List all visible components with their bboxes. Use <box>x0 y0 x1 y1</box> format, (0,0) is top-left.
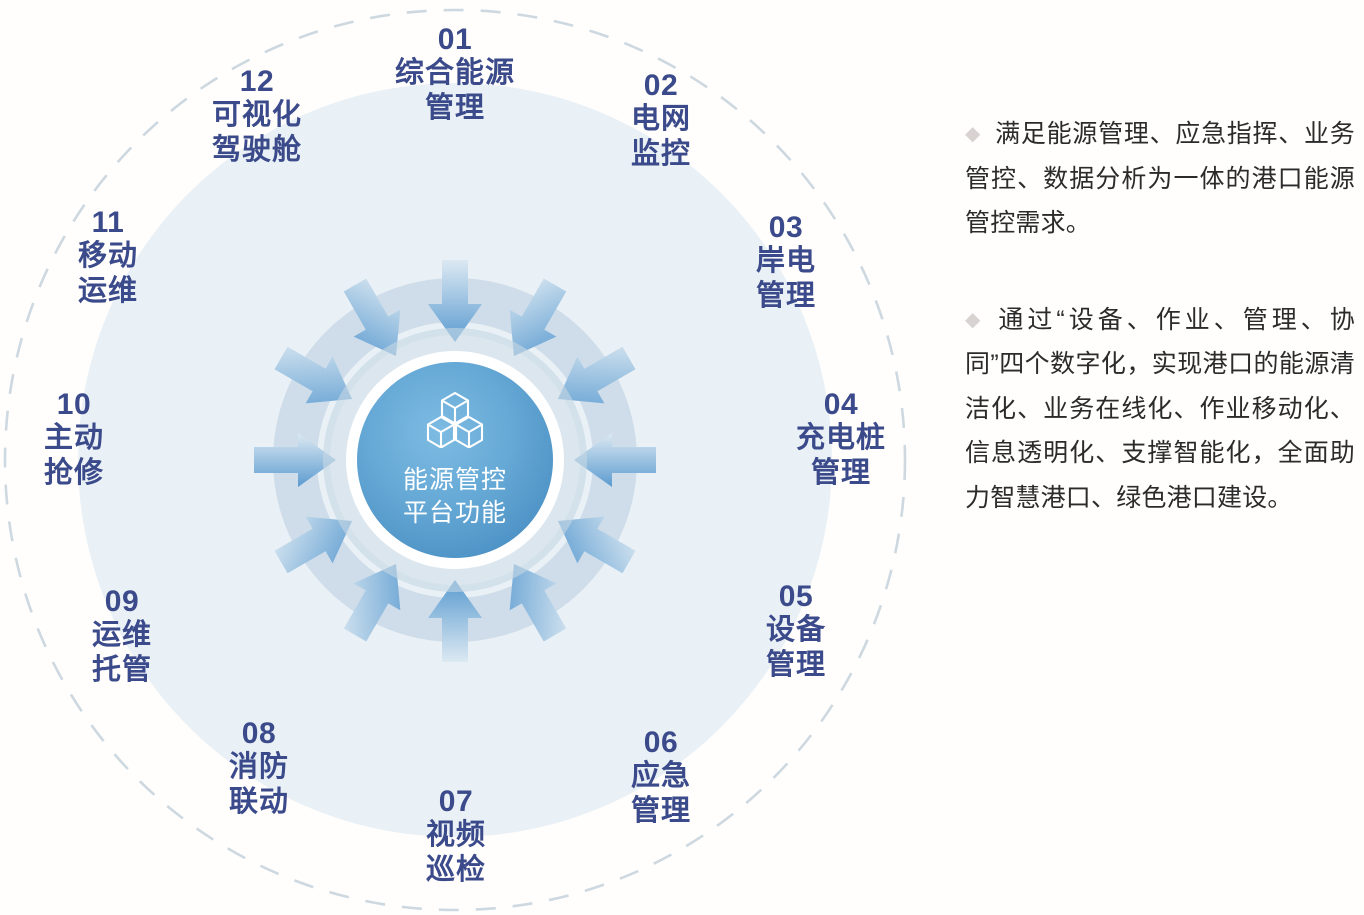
spoke-10[interactable]: 10 主动 抢修 <box>44 389 104 491</box>
radial-diagram: 能源管控 平台功能 01 综合能源 管理 02 电网 监控 03 岸电 管理 0… <box>0 0 930 915</box>
spoke-05-label2: 管理 <box>766 648 826 683</box>
spoke-12-number: 12 <box>212 66 302 98</box>
spoke-12[interactable]: 12 可视化 驾驶舱 <box>212 66 302 168</box>
spoke-09-label2: 托管 <box>92 653 152 688</box>
spoke-03[interactable]: 03 岸电 管理 <box>756 212 816 314</box>
spoke-10-label: 主动 <box>44 421 104 456</box>
spoke-02[interactable]: 02 电网 监控 <box>631 70 691 172</box>
spoke-06[interactable]: 06 应急 管理 <box>631 727 691 829</box>
spoke-04-number: 04 <box>796 389 886 421</box>
spoke-05[interactable]: 05 设备 管理 <box>766 581 826 683</box>
spoke-07-label2: 巡检 <box>426 853 486 888</box>
spoke-12-label: 可视化 <box>212 98 302 133</box>
note-text: 满足能源管理、应急指挥、业务管控、数据分析为一体的港口能源管控需求。 <box>965 120 1355 237</box>
spoke-11-label2: 运维 <box>78 274 138 309</box>
diamond-bullet-icon: ◆ <box>965 309 984 331</box>
spoke-04-label: 充电桩 <box>796 421 886 456</box>
spoke-08[interactable]: 08 消防 联动 <box>229 718 289 820</box>
spoke-09-label: 运维 <box>92 618 152 653</box>
spoke-01-label2: 管理 <box>395 91 515 126</box>
spoke-01-label: 综合能源 <box>395 56 515 91</box>
spoke-01[interactable]: 01 综合能源 管理 <box>395 24 515 126</box>
spoke-08-label: 消防 <box>229 750 289 785</box>
spoke-11[interactable]: 11 移动 运维 <box>78 207 138 309</box>
spoke-06-label2: 管理 <box>631 794 691 829</box>
spoke-06-number: 06 <box>631 727 691 759</box>
hub-title-line-1: 能源管控 <box>403 464 507 497</box>
center-hub: 能源管控 平台功能 <box>357 362 553 558</box>
spoke-02-label: 电网 <box>631 102 691 137</box>
spoke-02-label2: 监控 <box>631 137 691 172</box>
note-item: ◆通过“设备、作业、管理、协同”四个数字化，实现港口的能源清洁化、业务在线化、作… <box>965 298 1355 521</box>
spoke-05-number: 05 <box>766 581 826 613</box>
spoke-10-number: 10 <box>44 389 104 421</box>
spoke-11-label: 移动 <box>78 239 138 274</box>
spoke-03-number: 03 <box>756 212 816 244</box>
spoke-07-label: 视频 <box>426 818 486 853</box>
spoke-09[interactable]: 09 运维 托管 <box>92 586 152 688</box>
stacked-cubes-icon <box>424 390 486 448</box>
notes-column: ◆满足能源管理、应急指挥、业务管控、数据分析为一体的港口能源管控需求。 ◆通过“… <box>965 112 1355 572</box>
spoke-07[interactable]: 07 视频 巡检 <box>426 786 486 888</box>
spoke-06-label: 应急 <box>631 759 691 794</box>
spoke-11-number: 11 <box>78 207 138 239</box>
spoke-12-label2: 驾驶舱 <box>212 133 302 168</box>
spoke-04-label2: 管理 <box>796 456 886 491</box>
spoke-03-label: 岸电 <box>756 244 816 279</box>
spoke-08-label2: 联动 <box>229 785 289 820</box>
note-text: 通过“设备、作业、管理、协同”四个数字化，实现港口的能源清洁化、业务在线化、作业… <box>965 306 1355 512</box>
spoke-04[interactable]: 04 充电桩 管理 <box>796 389 886 491</box>
hub-title-line-2: 平台功能 <box>403 497 507 530</box>
spoke-08-number: 08 <box>229 718 289 750</box>
spoke-01-number: 01 <box>395 24 515 56</box>
note-item: ◆满足能源管理、应急指挥、业务管控、数据分析为一体的港口能源管控需求。 <box>965 112 1355 246</box>
spoke-02-number: 02 <box>631 70 691 102</box>
diamond-bullet-icon: ◆ <box>965 123 981 145</box>
spoke-10-label2: 抢修 <box>44 456 104 491</box>
spoke-03-label2: 管理 <box>756 279 816 314</box>
spoke-07-number: 07 <box>426 786 486 818</box>
spoke-05-label: 设备 <box>766 613 826 648</box>
spoke-09-number: 09 <box>92 586 152 618</box>
